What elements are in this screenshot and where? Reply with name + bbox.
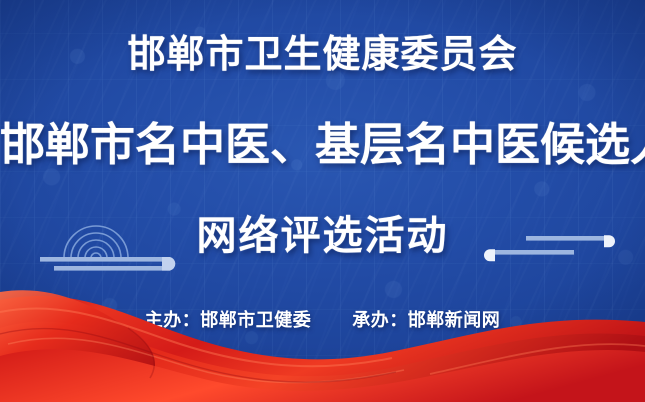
page-title-line-3: 网络评选活动 [0, 216, 645, 256]
red-silk-ribbon-icon [0, 282, 645, 402]
promo-banner: 邯郸市卫生健康委员会 邯郸市名中医、基层名中医候选人 网络评选活动 主办：邯郸市… [0, 0, 645, 402]
page-title-line-2: 邯郸市名中医、基层名中医候选人 [0, 122, 645, 167]
page-title-line-1: 邯郸市卫生健康委员会 [0, 36, 645, 74]
